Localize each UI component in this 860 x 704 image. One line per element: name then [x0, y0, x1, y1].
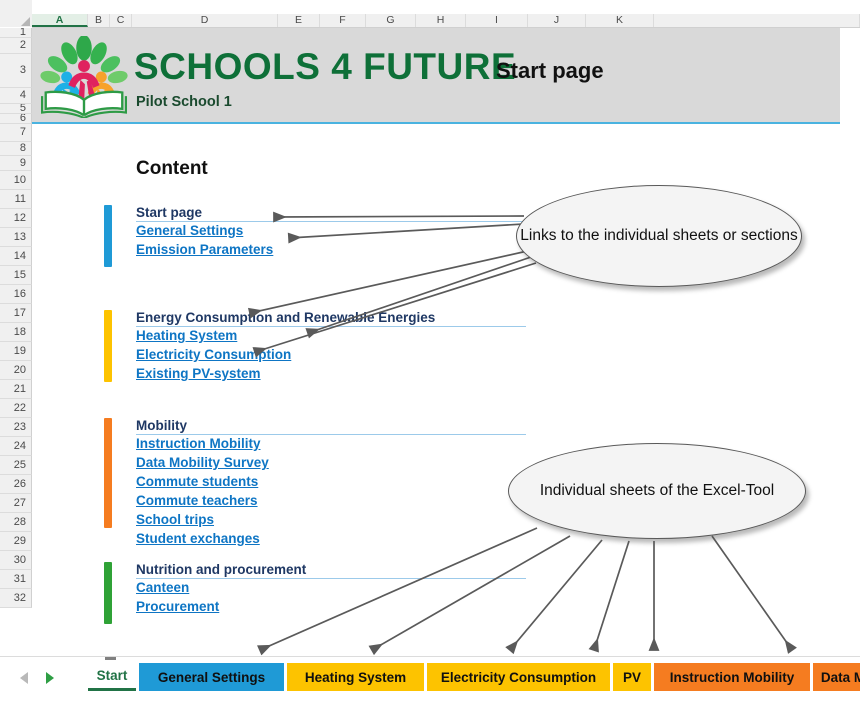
sheet-tab-heating-system[interactable]: Heating System: [287, 663, 424, 691]
column-header-h[interactable]: H: [416, 14, 466, 27]
column-header-e[interactable]: E: [278, 14, 320, 27]
column-header-g[interactable]: G: [366, 14, 416, 27]
row-header-14[interactable]: 14: [0, 247, 32, 266]
row-header-20[interactable]: 20: [0, 361, 32, 380]
column-header-d[interactable]: D: [132, 14, 278, 27]
row-header-30[interactable]: 30: [0, 551, 32, 570]
brand-title: SCHOOLS 4 FUTURE: [134, 46, 516, 88]
row-header-19[interactable]: 19: [0, 342, 32, 361]
sheet-tab-instruction-mobility[interactable]: Instruction Mobility: [654, 663, 810, 691]
content-section: MobilityInstruction MobilityData Mobilit…: [104, 418, 534, 528]
row-header-16[interactable]: 16: [0, 285, 32, 304]
section-color-bar: [104, 205, 112, 267]
row-header-27[interactable]: 27: [0, 494, 32, 513]
links-callout-text: Links to the individual sheets or sectio…: [520, 226, 797, 246]
row-header-9[interactable]: 9: [0, 156, 32, 171]
brand-subtitle: Pilot School 1: [136, 94, 232, 110]
section-link-canteen[interactable]: Canteen: [136, 580, 189, 595]
tab-split-handle[interactable]: [105, 657, 116, 660]
triangle-right-icon[interactable]: [46, 672, 54, 684]
section-title: Start page: [136, 205, 202, 220]
section-title: Energy Consumption and Renewable Energie…: [136, 310, 435, 325]
row-header-32[interactable]: 32: [0, 589, 32, 608]
row-header-10[interactable]: 10: [0, 171, 32, 190]
row-header-26[interactable]: 26: [0, 475, 32, 494]
triangle-left-icon[interactable]: [20, 672, 28, 684]
sheet-tab-data-m[interactable]: Data M: [813, 663, 860, 691]
row-header-31[interactable]: 31: [0, 570, 32, 589]
schools-4-future-logo: [38, 36, 130, 118]
excel-window: ABCDEFGHIJK 1234567891011121314151617181…: [0, 0, 860, 704]
section-link-student-exchanges[interactable]: Student exchanges: [136, 531, 260, 546]
row-header-28[interactable]: 28: [0, 513, 32, 532]
section-divider: [136, 578, 526, 579]
row-header-column: 1234567891011121314151617181920212223242…: [0, 28, 32, 608]
section-link-heating-system[interactable]: Heating System: [136, 328, 237, 343]
column-header-j[interactable]: J: [528, 14, 586, 27]
section-title: Nutrition and procurement: [136, 562, 306, 577]
column-header-k[interactable]: K: [586, 14, 654, 27]
row-header-13[interactable]: 13: [0, 228, 32, 247]
row-header-15[interactable]: 15: [0, 266, 32, 285]
section-divider: [136, 434, 526, 435]
column-header-filler: [654, 14, 860, 27]
content-section: Nutrition and procurementCanteenProcurem…: [104, 562, 534, 624]
row-header-6[interactable]: 6: [0, 114, 32, 124]
section-color-bar: [104, 418, 112, 528]
section-divider: [136, 221, 526, 222]
row-header-29[interactable]: 29: [0, 532, 32, 551]
column-header-i[interactable]: I: [466, 14, 528, 27]
column-header-b[interactable]: B: [88, 14, 110, 27]
section-divider: [136, 326, 526, 327]
section-link-existing-pv-system[interactable]: Existing PV-system: [136, 366, 261, 381]
section-link-electricity-consumption[interactable]: Electricity Consumption: [136, 347, 291, 362]
row-header-23[interactable]: 23: [0, 418, 32, 437]
sheet-tab-bar: StartGeneral SettingsHeating SystemElect…: [0, 656, 860, 704]
section-link-school-trips[interactable]: School trips: [136, 512, 214, 527]
row-header-3[interactable]: 3: [0, 54, 32, 88]
column-header-f[interactable]: F: [320, 14, 366, 27]
sheet-tab-pv[interactable]: PV: [613, 663, 651, 691]
sheet-tab-start[interactable]: Start: [88, 663, 136, 691]
links-callout: Links to the individual sheets or sectio…: [516, 185, 802, 287]
section-link-commute-students[interactable]: Commute students: [136, 474, 258, 489]
row-header-17[interactable]: 17: [0, 304, 32, 323]
section-color-bar: [104, 310, 112, 382]
row-header-7[interactable]: 7: [0, 124, 32, 142]
select-all-corner[interactable]: [0, 0, 32, 27]
row-header-2[interactable]: 2: [0, 38, 32, 54]
content-section: Start pageGeneral SettingsEmission Param…: [104, 205, 534, 267]
row-header-5[interactable]: 5: [0, 104, 32, 114]
column-header-row: ABCDEFGHIJK: [32, 14, 860, 28]
sheets-callout: Individual sheets of the Excel-Tool: [508, 443, 806, 539]
row-header-8[interactable]: 8: [0, 142, 32, 156]
row-header-21[interactable]: 21: [0, 380, 32, 399]
section-link-data-mobility-survey[interactable]: Data Mobility Survey: [136, 455, 269, 470]
row-header-12[interactable]: 12: [0, 209, 32, 228]
banner: SCHOOLS 4 FUTURE Pilot School 1 Start pa…: [32, 28, 840, 124]
row-header-22[interactable]: 22: [0, 399, 32, 418]
content-section: Energy Consumption and Renewable Energie…: [104, 310, 534, 382]
content-heading: Content: [136, 158, 208, 180]
column-header-a[interactable]: A: [32, 14, 88, 27]
sheet-tabs: StartGeneral SettingsHeating SystemElect…: [88, 663, 860, 691]
select-all-triangle-icon: [21, 17, 30, 26]
page-title: Start page: [496, 58, 604, 84]
row-header-11[interactable]: 11: [0, 190, 32, 209]
section-title: Mobility: [136, 418, 187, 433]
section-link-procurement[interactable]: Procurement: [136, 599, 219, 614]
section-link-commute-teachers[interactable]: Commute teachers: [136, 493, 258, 508]
section-color-bar: [104, 562, 112, 624]
row-header-25[interactable]: 25: [0, 456, 32, 475]
section-link-instruction-mobility[interactable]: Instruction Mobility: [136, 436, 261, 451]
row-header-1[interactable]: 1: [0, 28, 32, 38]
row-header-18[interactable]: 18: [0, 323, 32, 342]
section-link-emission-parameters[interactable]: Emission Parameters: [136, 242, 273, 257]
row-header-4[interactable]: 4: [0, 88, 32, 104]
sheet-tab-electricity-consumption[interactable]: Electricity Consumption: [427, 663, 610, 691]
row-header-24[interactable]: 24: [0, 437, 32, 456]
sheet-tab-general-settings[interactable]: General Settings: [139, 663, 284, 691]
sheet-nav-buttons: [12, 665, 82, 691]
column-header-c[interactable]: C: [110, 14, 132, 27]
sheets-callout-text: Individual sheets of the Excel-Tool: [540, 481, 774, 501]
section-link-general-settings[interactable]: General Settings: [136, 223, 243, 238]
